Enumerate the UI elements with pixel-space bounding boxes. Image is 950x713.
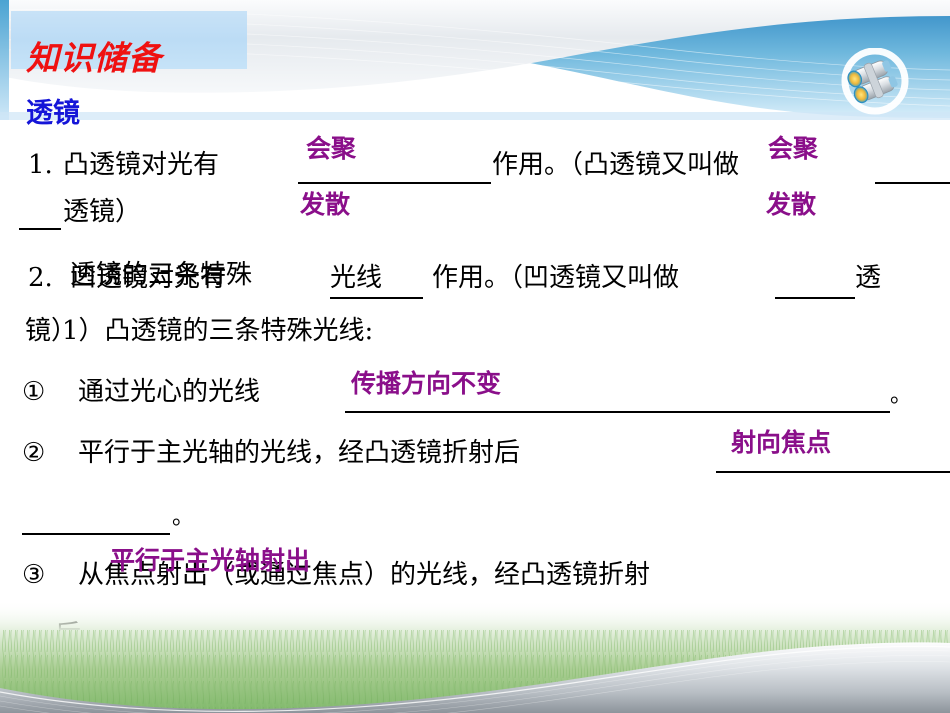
item1-annotation-huiju-2: 会聚 (768, 136, 818, 161)
page-title: 知识储备 (26, 42, 162, 75)
sub-item-3-marker: ③ (22, 562, 45, 588)
item1-annotation-fasan-1: 发散 (300, 192, 350, 217)
item1-blank-2 (875, 182, 950, 184)
binoculars-icon (836, 48, 914, 118)
sub-item-2-period: 。 (172, 507, 194, 529)
item1-blank-3 (19, 228, 61, 230)
presentation-slide: 知识储备 透镜 1. 凸透镜对光有 会聚 发散 作用。（凸透镜又叫做 会聚 发散… (0, 0, 950, 713)
sub-item-2-annotation: 射向焦点 (731, 430, 831, 455)
sub-item-1-blank (345, 411, 890, 413)
sub-item-1-text: 通过光心的光线 (78, 379, 260, 405)
sub-item-1-marker: ① (22, 379, 45, 405)
item2-blank-2 (775, 297, 855, 299)
item1-annotation-huiju-1: 会聚 (306, 136, 356, 161)
sub-item-1-annotation: 传播方向不变 (351, 371, 501, 396)
sub-item-3-annotation: 平行于主光轴射出 (110, 548, 310, 573)
item2-blank-1 (330, 297, 423, 299)
item1-blank-1 (298, 182, 491, 184)
sub-item-1-period: 。 (890, 385, 912, 407)
sub-item-2-marker: ② (22, 440, 45, 466)
item2-fill-text: 光线 (330, 265, 382, 291)
subtitle: 透镜 (26, 100, 80, 127)
item2-overlay-text-a: 透镜的三条特殊 (70, 262, 252, 288)
item1-text-b: 作用。（凸透镜又叫做 (492, 152, 739, 178)
bottom-decorative-band (0, 600, 950, 713)
item2-overlay-text-b: 1）凸透镜的三条特殊光线: (62, 318, 373, 344)
sub-item-2-blank-b (22, 533, 170, 535)
sub-item-2-blank-a (716, 471, 950, 473)
item1-annotation-fasan-2: 发散 (766, 192, 816, 217)
item1-text-a: 凸透镜对光有 (63, 152, 219, 178)
sub-item-2-text: 平行于主光轴的光线，经凸透镜折射后 (78, 440, 520, 466)
item1-number: 1. (28, 152, 53, 178)
item1-text-c: 透镜） (63, 199, 141, 225)
item2-text-c: 透 (855, 265, 881, 291)
item2-text-b: 作用。（凹透镜又叫做 (432, 265, 679, 291)
item2-number: 2. (28, 265, 53, 291)
